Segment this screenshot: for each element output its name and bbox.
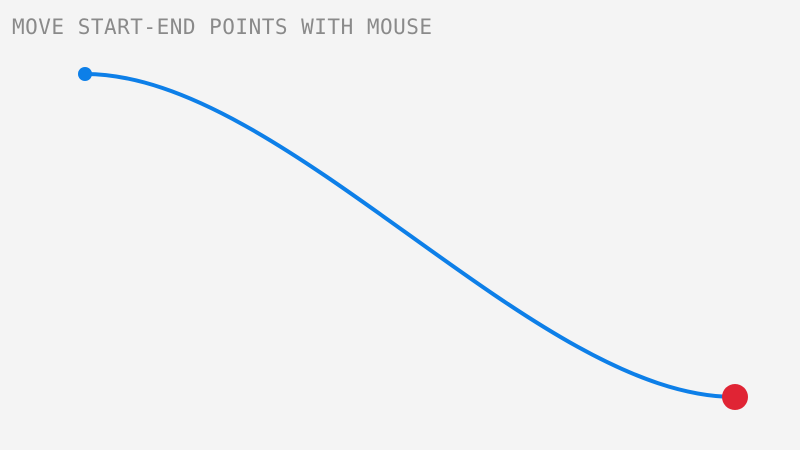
- bezier-demo-canvas[interactable]: MOVE START-END POINTS WITH MOUSE: [0, 0, 800, 450]
- curve-canvas: [0, 0, 800, 450]
- start-point-handle[interactable]: [78, 67, 92, 81]
- bezier-curve: [85, 74, 735, 397]
- page-title: MOVE START-END POINTS WITH MOUSE: [12, 15, 433, 39]
- end-point-handle[interactable]: [722, 384, 748, 410]
